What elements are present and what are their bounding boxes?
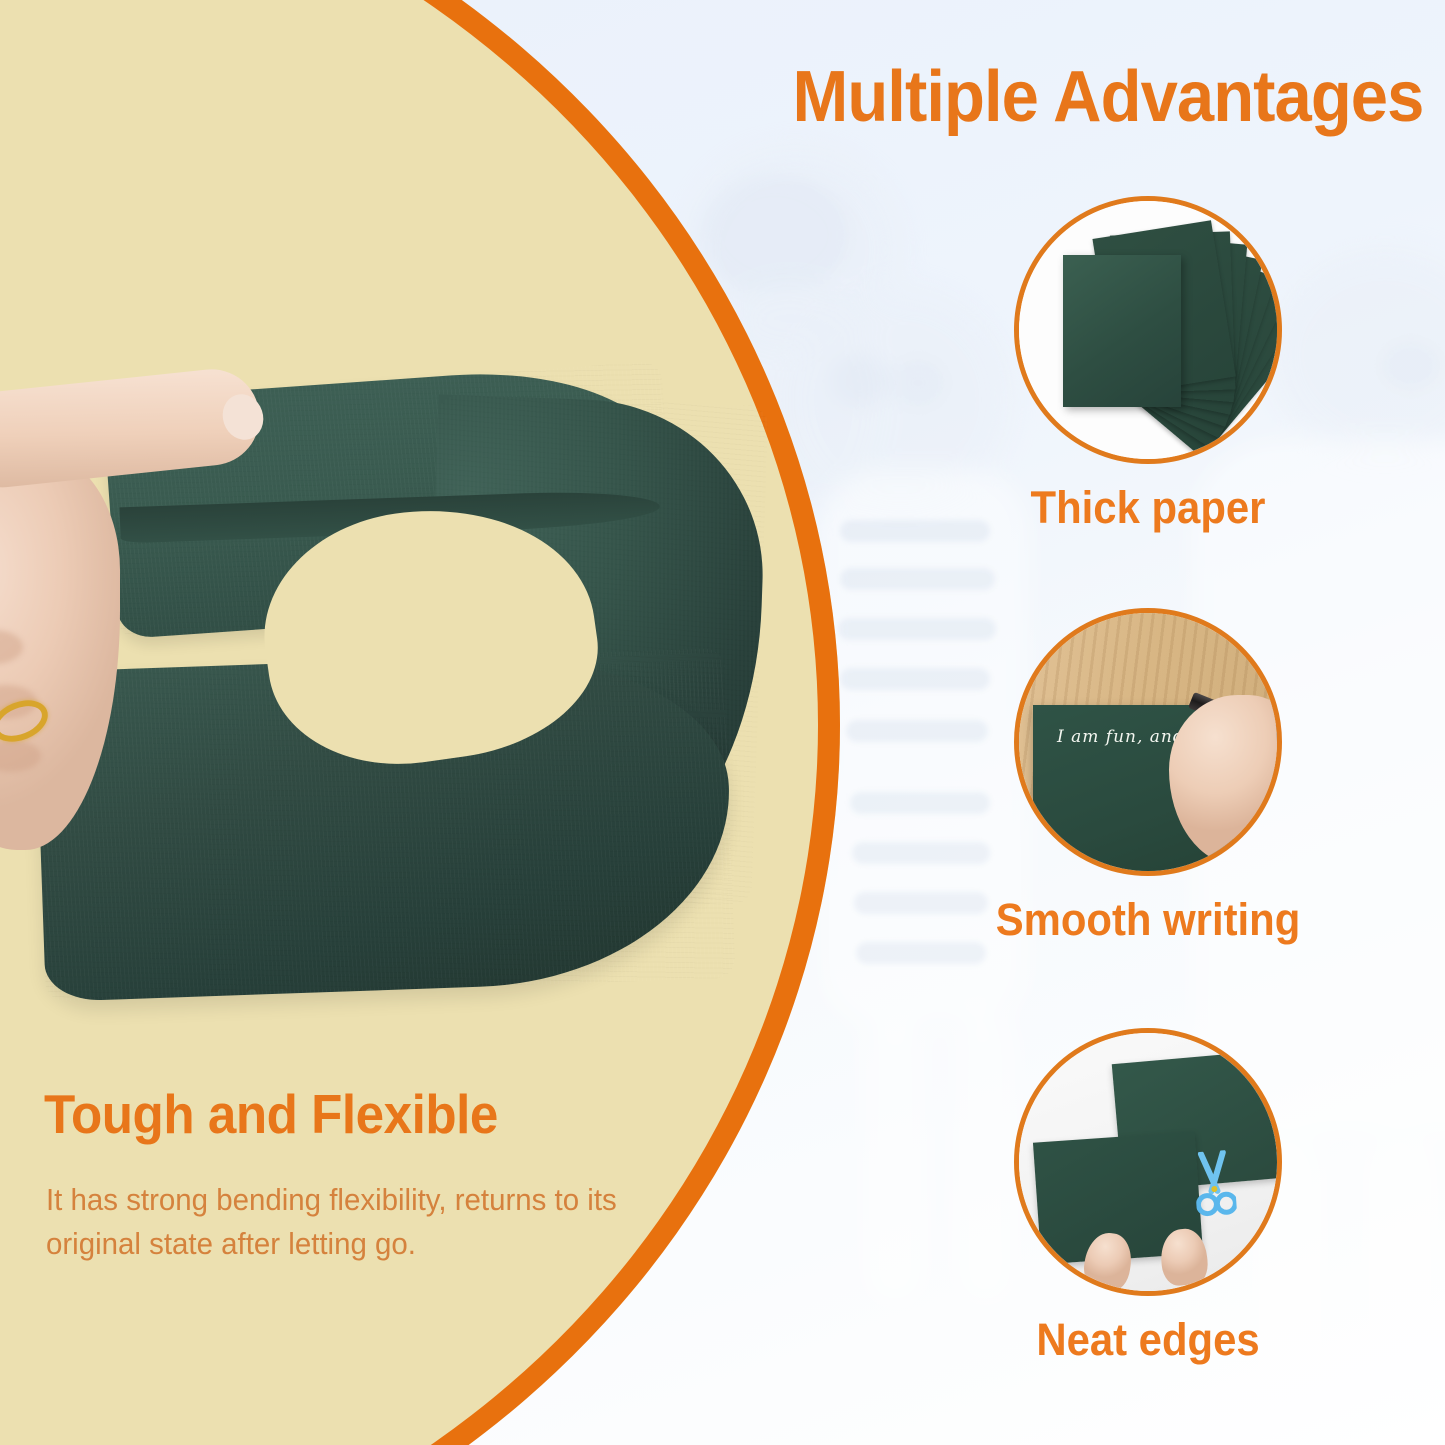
front-sheet [1063, 255, 1181, 407]
left-section-heading: Tough and Flexible [44, 1082, 498, 1146]
hand-holding-paper [0, 380, 165, 860]
feature-label-neat-edges: Neat edges [1036, 1314, 1259, 1366]
feature-image-ring: I am fun, and [1014, 608, 1282, 876]
feature-image-ring [1014, 196, 1282, 464]
scissors-icon [1193, 1150, 1238, 1219]
feature-label-smooth-writing: Smooth writing [996, 894, 1301, 946]
feature-label-thick-paper: Thick paper [1031, 482, 1266, 534]
feature-smooth-writing: I am fun, and Smooth writing [1014, 608, 1282, 876]
product-infographic-poster: Multiple Advantages Tough and Flexible I… [0, 0, 1445, 1445]
feature-thick-paper: Thick paper [1014, 196, 1282, 464]
feature-image-ring [1014, 1028, 1282, 1296]
bending-paper-image [0, 360, 760, 960]
handwriting-text: I am fun, and [1057, 727, 1185, 747]
left-section-body: It has strong bending flexibility, retur… [46, 1178, 711, 1266]
feature-neat-edges: Neat edges [1014, 1028, 1282, 1296]
page-title: Multiple Advantages [792, 56, 1423, 138]
